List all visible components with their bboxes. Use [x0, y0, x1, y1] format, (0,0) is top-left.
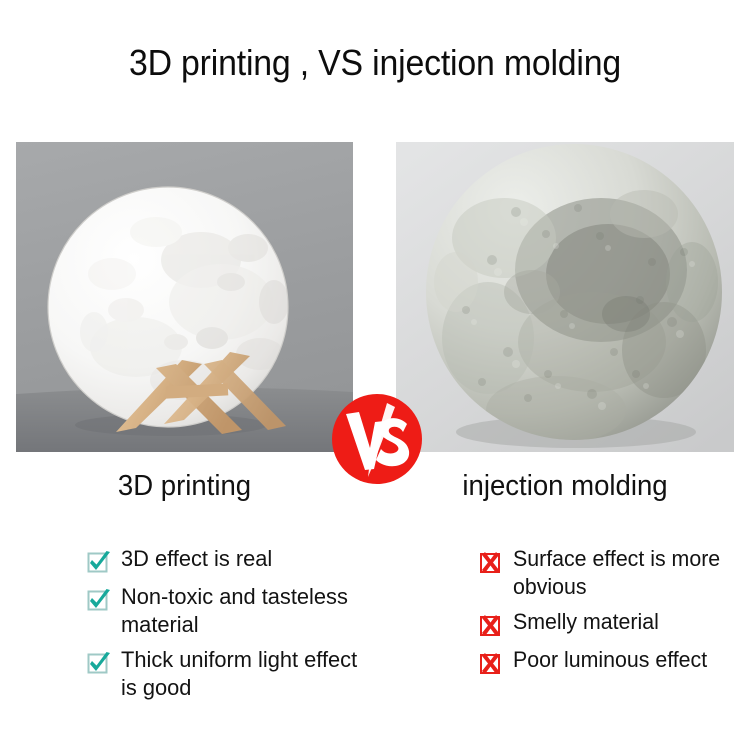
vs-badge — [329, 391, 425, 487]
feature-list-3d-printing: 3D effect is real Non-toxic and tasteles… — [86, 545, 386, 709]
list-item-label: Thick uniform light effect is good — [121, 646, 378, 702]
list-item: Non-toxic and tasteless material — [86, 583, 386, 639]
cross-icon — [478, 550, 504, 576]
list-item-label: Non-toxic and tasteless material — [121, 583, 378, 639]
photo-injection-molding — [396, 142, 734, 452]
list-item: Surface effect is more obvious — [478, 545, 746, 601]
caption-3d-printing: 3D printing — [24, 470, 344, 503]
list-item-label: Smelly material — [513, 608, 659, 636]
check-icon — [86, 588, 112, 614]
list-item: Thick uniform light effect is good — [86, 646, 386, 702]
cross-icon — [478, 613, 504, 639]
check-icon — [86, 550, 112, 576]
list-item-label: Surface effect is more obvious — [513, 545, 739, 601]
cross-icon — [478, 651, 504, 677]
photo-3d-printing — [16, 142, 353, 452]
page-title: 3D printing , VS injection molding — [23, 42, 728, 84]
caption-injection-molding: injection molding — [404, 470, 725, 503]
list-item: 3D effect is real — [86, 545, 386, 576]
list-item: Smelly material — [478, 608, 746, 639]
list-item: Poor luminous effect — [478, 646, 746, 677]
feature-list-injection-molding: Surface effect is more obvious Smelly ma… — [478, 545, 746, 684]
check-icon — [86, 651, 112, 677]
list-item-label: 3D effect is real — [121, 545, 272, 573]
comparison-photo-row — [0, 142, 750, 452]
list-item-label: Poor luminous effect — [513, 646, 707, 674]
